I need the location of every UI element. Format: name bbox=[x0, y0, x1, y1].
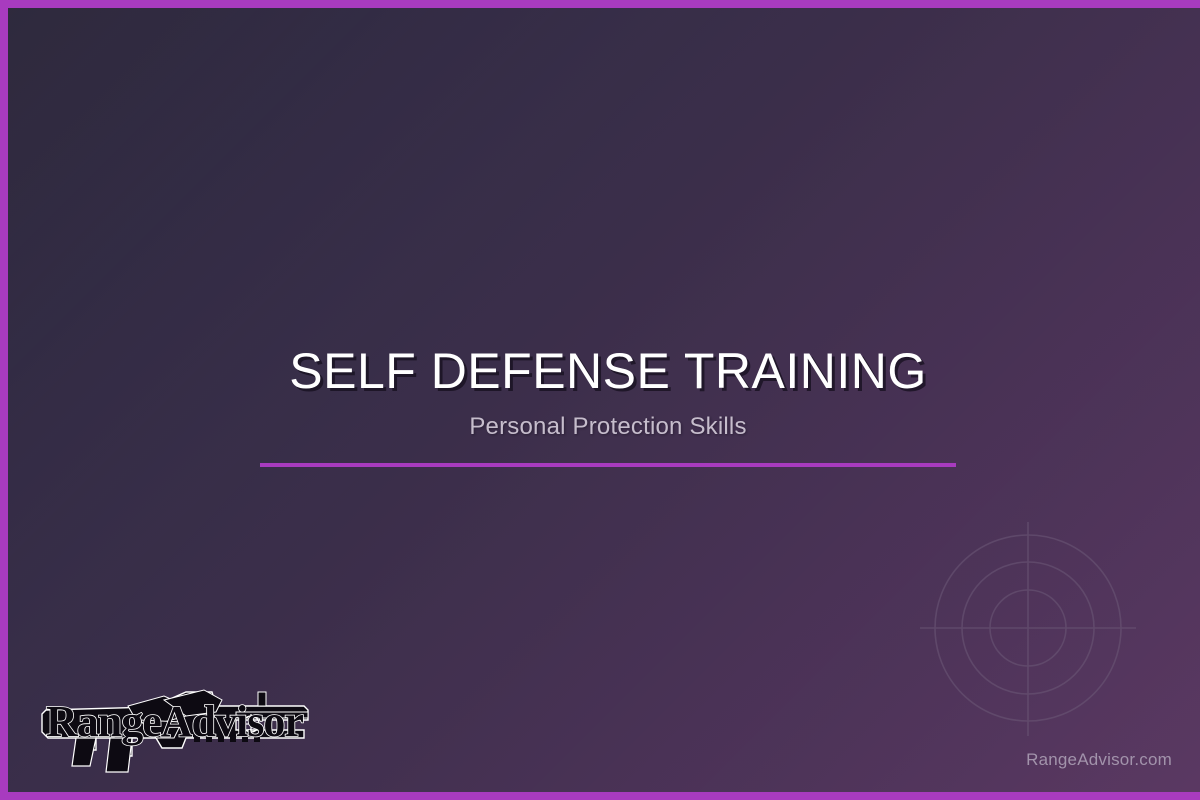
title-divider bbox=[260, 463, 956, 467]
frame-border-left bbox=[0, 0, 8, 800]
presentation-slide: SELF DEFENSE TRAINING Personal Protectio… bbox=[0, 0, 1200, 800]
slide-background: SELF DEFENSE TRAINING Personal Protectio… bbox=[8, 8, 1200, 792]
page-subtitle: Personal Protection Skills bbox=[8, 413, 1200, 441]
site-watermark: RangeAdvisor.com bbox=[1026, 750, 1172, 770]
page-title: SELF DEFENSE TRAINING bbox=[8, 344, 1200, 399]
crosshair-target-icon bbox=[920, 520, 1136, 736]
title-block: SELF DEFENSE TRAINING Personal Protectio… bbox=[8, 344, 1200, 441]
frame-border-top bbox=[0, 0, 1200, 8]
brand-logo-wordmark: RangeAdvisor bbox=[46, 697, 303, 746]
brand-logo: RangeAdvisor bbox=[36, 676, 314, 780]
frame-border-bottom bbox=[0, 792, 1200, 800]
